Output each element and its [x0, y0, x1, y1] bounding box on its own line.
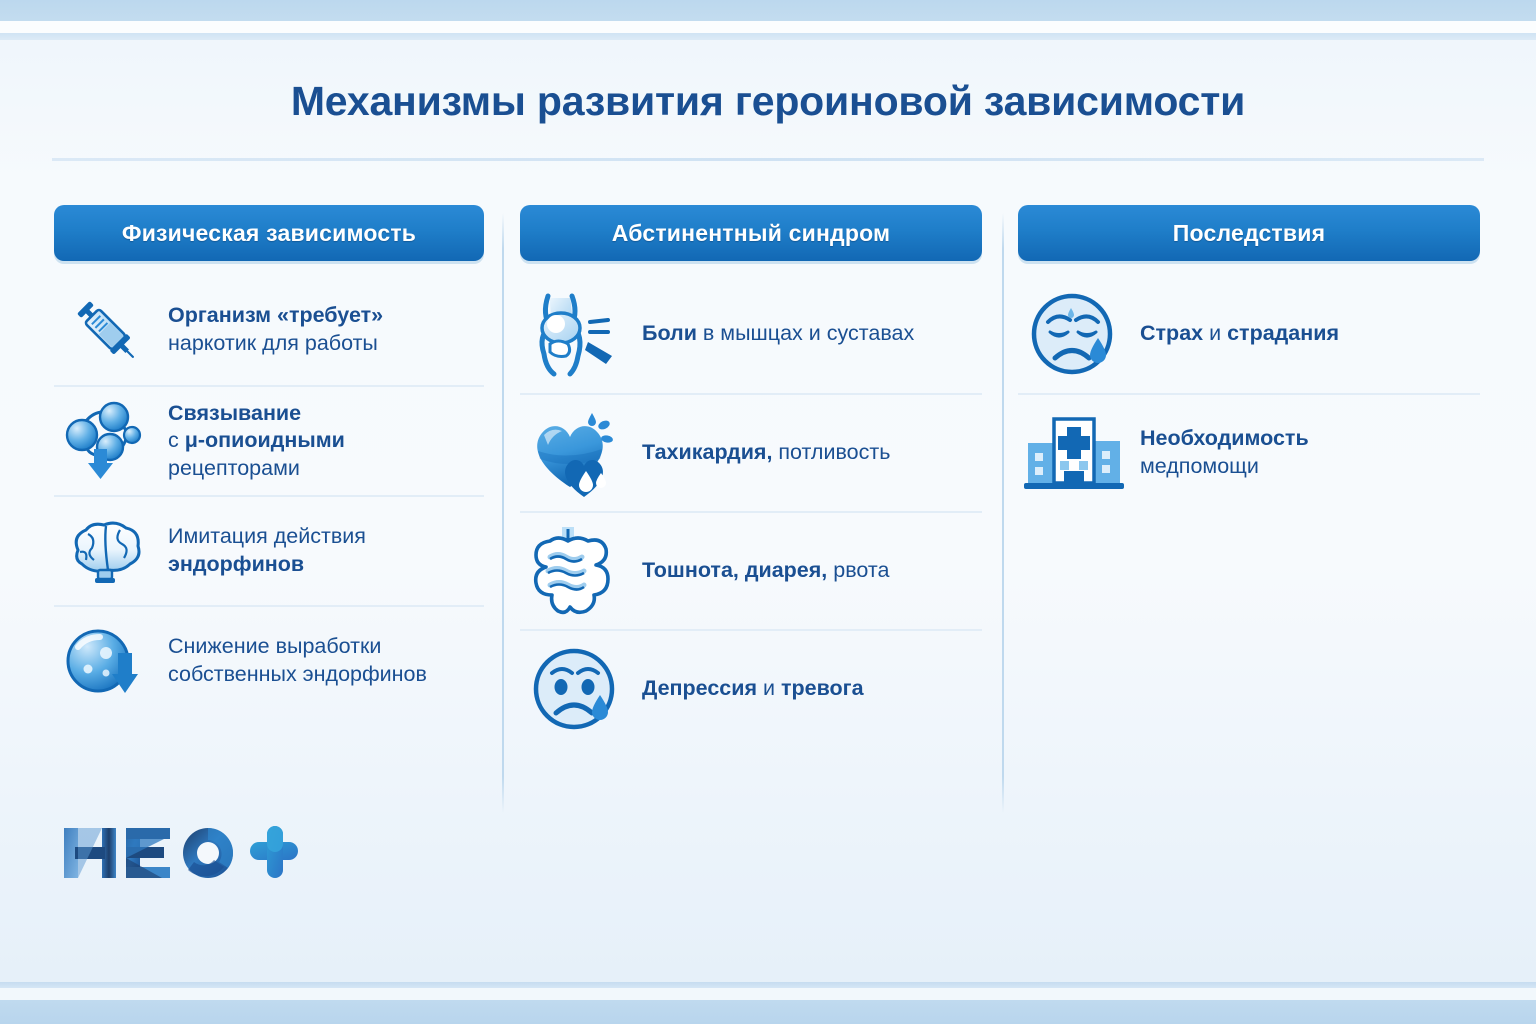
- list-item-text: Тошнота, диарея, рвота: [642, 557, 889, 585]
- item-text-bold: Депрессия: [642, 676, 757, 700]
- page-title: Механизмы развития героиновой зависимост…: [0, 78, 1536, 125]
- list-item: Связывание с μ-опиоидными рецепторами: [54, 385, 484, 495]
- bottom-band: [0, 1000, 1536, 1024]
- list-item-text: Боли в мышцах и суставах: [642, 320, 914, 348]
- column-header-label: Физическая зависимость: [122, 220, 416, 247]
- item-text-regular: и: [1203, 321, 1227, 345]
- item-line-bold-2: μ-опиоидными: [185, 428, 345, 452]
- item-text-regular: в мышцах и суставах: [697, 321, 914, 345]
- joint-pain-icon: [526, 292, 626, 376]
- syringe-icon: [60, 288, 152, 372]
- item-text-bold-2: тревога: [781, 676, 864, 700]
- column-physical-dependence: Физическая зависимость: [54, 205, 484, 715]
- list-item: Тахикардия, потливость: [520, 393, 982, 511]
- column-consequences: Последствия: [1018, 205, 1480, 511]
- brain-icon: [60, 509, 152, 593]
- column-withdrawal-syndrome: Абстинентный синдром: [520, 205, 982, 747]
- item-line-regular: Снижение выработки: [168, 634, 381, 658]
- list-item-text: Тахикардия, потливость: [642, 439, 890, 467]
- item-line-regular: Имитация действия: [168, 524, 366, 548]
- list-item: Организм «требует» наркотик для работы: [54, 275, 484, 385]
- worried-face-tear-icon: [1024, 292, 1124, 376]
- bottom-band-gap: [0, 988, 1536, 1000]
- column-header-withdrawal: Абстинентный синдром: [520, 205, 982, 261]
- hospital-icon: [1024, 411, 1124, 495]
- list-item-text: Организм «требует» наркотик для работы: [168, 302, 383, 357]
- list-item-text: Имитация действия эндорфинов: [168, 523, 366, 578]
- item-line-bold: Связывание: [168, 401, 301, 425]
- list-item-text: Страх и страдания: [1140, 320, 1339, 348]
- top-band-gap: [0, 21, 1536, 33]
- columns-container: Физическая зависимость: [0, 205, 1536, 825]
- heart-sweat-icon: [526, 411, 626, 495]
- item-line-bold: Организм «требует»: [168, 303, 383, 327]
- item-text-bold: Тахикардия,: [642, 440, 772, 464]
- item-text-regular: и: [757, 676, 781, 700]
- column-header-label: Последствия: [1173, 220, 1325, 247]
- list-item-text: Связывание с μ-опиоидными рецепторами: [168, 400, 345, 483]
- title-divider: [52, 158, 1484, 161]
- list-item-text: Необходимость медпомощи: [1140, 425, 1309, 480]
- item-line-bold: эндорфинов: [168, 552, 304, 576]
- top-band: [0, 0, 1536, 21]
- column-divider-2: [1002, 213, 1004, 813]
- list-item-text: Снижение выработки собственных эндорфино…: [168, 633, 427, 688]
- infographic-page: Механизмы развития героиновой зависимост…: [0, 0, 1536, 1024]
- item-line-regular: наркотик для работы: [168, 331, 378, 355]
- list-item: Тошнота, диарея, рвота: [520, 511, 982, 629]
- item-line-regular: медпомощи: [1140, 454, 1259, 478]
- column-divider-1: [502, 213, 504, 813]
- item-text-bold-2: страдания: [1227, 321, 1339, 345]
- item-line-prefix: с: [168, 428, 185, 452]
- brand-logo: [62, 818, 302, 886]
- molecule-decline-icon: [60, 619, 152, 703]
- column-header-physical: Физическая зависимость: [54, 205, 484, 261]
- items-list-consequences: Страх и страдания: [1018, 275, 1480, 511]
- item-text-regular: потливость: [772, 440, 890, 464]
- sad-face-tear-icon: [526, 647, 626, 731]
- item-text-regular: рвота: [827, 558, 889, 582]
- list-item: Страх и страдания: [1018, 275, 1480, 393]
- molecule-receptor-icon: [60, 399, 152, 483]
- column-header-consequences: Последствия: [1018, 205, 1480, 261]
- list-item: Депрессия и тревога: [520, 629, 982, 747]
- list-item: Снижение выработки собственных эндорфино…: [54, 605, 484, 715]
- top-rule: [0, 33, 1536, 40]
- items-list-withdrawal: Боли в мышцах и суставах: [520, 275, 982, 747]
- column-header-label: Абстинентный синдром: [612, 220, 891, 247]
- item-line-bold: Необходимость: [1140, 426, 1309, 450]
- list-item: Имитация действия эндорфинов: [54, 495, 484, 605]
- intestines-icon: [526, 529, 626, 613]
- item-line-regular-2: собственных эндорфинов: [168, 662, 427, 686]
- item-text-bold: Страх: [1140, 321, 1203, 345]
- item-line-regular: рецепторами: [168, 456, 300, 480]
- item-text-bold: Боли: [642, 321, 697, 345]
- list-item: Боли в мышцах и суставах: [520, 275, 982, 393]
- item-text-bold: Тошнота, диарея,: [642, 558, 827, 582]
- list-item-text: Депрессия и тревога: [642, 675, 864, 703]
- list-item: Необходимость медпомощи: [1018, 393, 1480, 511]
- items-list-physical: Организм «требует» наркотик для работы: [54, 275, 484, 715]
